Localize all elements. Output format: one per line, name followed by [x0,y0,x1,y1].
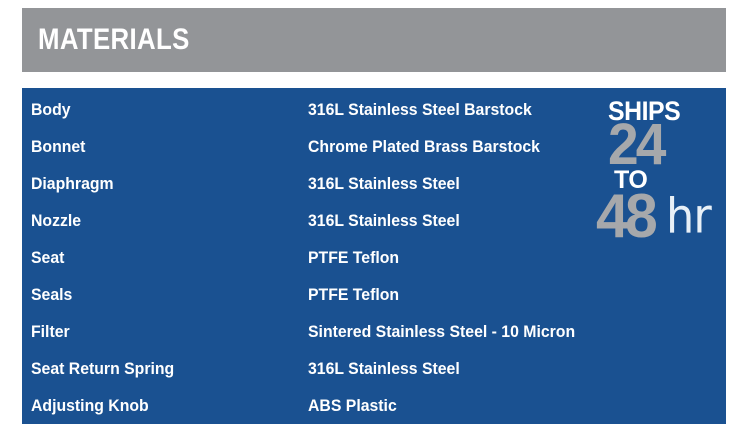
material-value-cell: 316L Stainless Steel [308,212,471,229]
material-name-cell: Body [22,101,308,118]
table-row: Adjusting Knob ABS Plastic [22,387,726,424]
table-row: Nozzle 316L Stainless Steel [22,202,726,239]
table-row: Seat PTFE Teflon [22,239,726,276]
table-row: Diaphragm 316L Stainless Steel [22,165,726,202]
material-value-cell: PTFE Teflon [308,286,406,303]
page-title-text: MATERIALS [38,25,190,55]
material-value-cell: 316L Stainless Steel [308,175,471,192]
materials-table: SHIPS 24 TO 48 hr Body 316L Stainless St… [22,88,726,424]
table-row: Seals PTFE Teflon [22,276,726,313]
material-name-cell: Nozzle [22,212,308,229]
table-row: Seat Return Spring 316L Stainless Steel [22,350,726,387]
material-value-cell: 316L Stainless Steel Barstock [308,101,549,118]
material-name-cell: Seat Return Spring [22,360,308,377]
materials-spec-panel: MATERIALS SHIPS 24 TO 48 hr Body 316L St… [0,0,736,432]
material-value-cell: 316L Stainless Steel [308,360,471,377]
materials-row-list: Body 316L Stainless Steel Barstock Bonne… [22,88,726,424]
material-name-cell: Bonnet [22,138,308,155]
materials-header-bar: MATERIALS [22,8,726,72]
table-row: Body 316L Stainless Steel Barstock [22,91,726,128]
material-value-cell: ABS Plastic [308,397,403,414]
material-name-cell: Seals [22,286,308,303]
page-title: MATERIALS [38,25,214,55]
material-value-cell: Chrome Plated Brass Barstock [308,138,557,155]
material-value-cell: Sintered Stainless Steel - 10 Micron [308,323,595,340]
material-name-cell: Diaphragm [22,175,308,192]
material-name-cell: Adjusting Knob [22,397,308,414]
material-name-cell: Seat [22,249,308,266]
table-row: Filter Sintered Stainless Steel - 10 Mic… [22,313,726,350]
material-name-cell: Filter [22,323,308,340]
table-row: Bonnet Chrome Plated Brass Barstock [22,128,726,165]
material-value-cell: PTFE Teflon [308,249,406,266]
